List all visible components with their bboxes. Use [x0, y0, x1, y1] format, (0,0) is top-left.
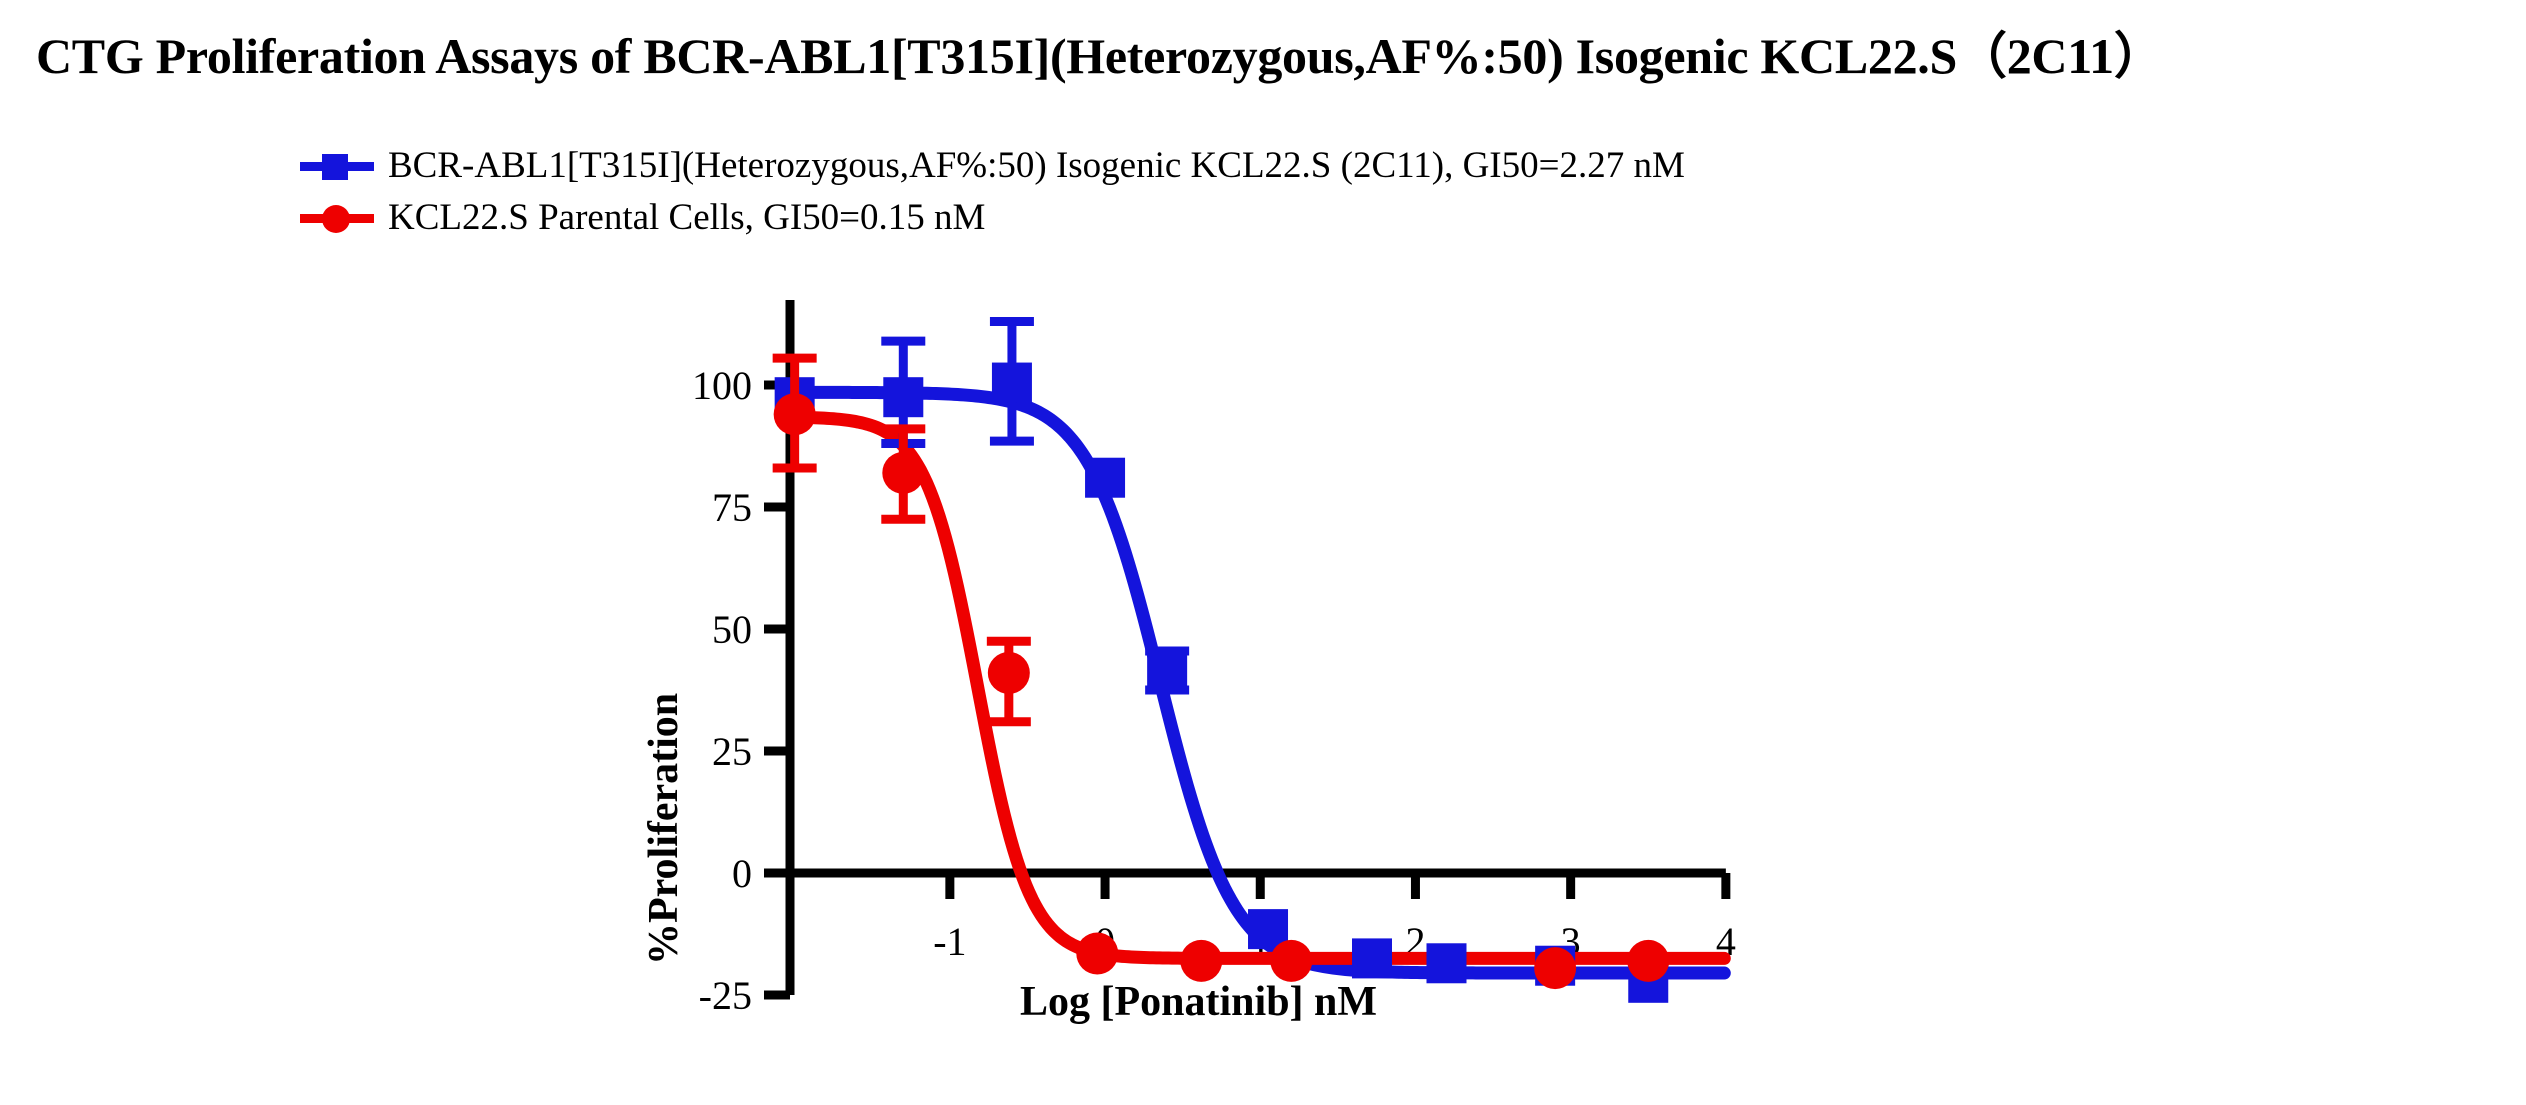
y-tick-label: 50 [712, 607, 752, 652]
data-point-marker [1180, 940, 1222, 982]
x-tick-label: -1 [933, 919, 966, 964]
y-axis-ticks: -250255075100 [692, 363, 790, 1018]
x-axis-ticks: -101234 [933, 873, 1736, 964]
data-point-marker [1085, 458, 1125, 498]
data-point-marker [1352, 938, 1392, 978]
data-point-marker [1270, 940, 1312, 982]
figure-root: CTG Proliferation Assays of BCR-ABL1[T31… [0, 0, 2526, 1105]
data-point-marker [1147, 650, 1187, 690]
y-tick-label: -25 [699, 973, 752, 1018]
y-tick-label: 75 [712, 485, 752, 530]
series-points-0 [775, 322, 1669, 1003]
data-point-marker [988, 652, 1030, 694]
data-point-marker [992, 363, 1032, 403]
data-point-marker [882, 452, 924, 494]
data-point-marker [774, 393, 816, 435]
x-axis-title: Log [Ponatinib] nM [1020, 978, 1377, 1026]
data-point-marker [1426, 943, 1466, 983]
y-tick-label: 100 [692, 363, 752, 408]
data-point-marker [883, 377, 923, 417]
data-point-marker [1534, 947, 1576, 989]
data-point-marker [1627, 940, 1669, 982]
y-tick-label: 25 [712, 729, 752, 774]
data-point-marker [1076, 933, 1118, 975]
y-axis-title: %Proliferation [640, 693, 688, 965]
plot-area: -101234-250255075100 [0, 0, 2526, 1105]
y-tick-label: 0 [732, 851, 752, 896]
